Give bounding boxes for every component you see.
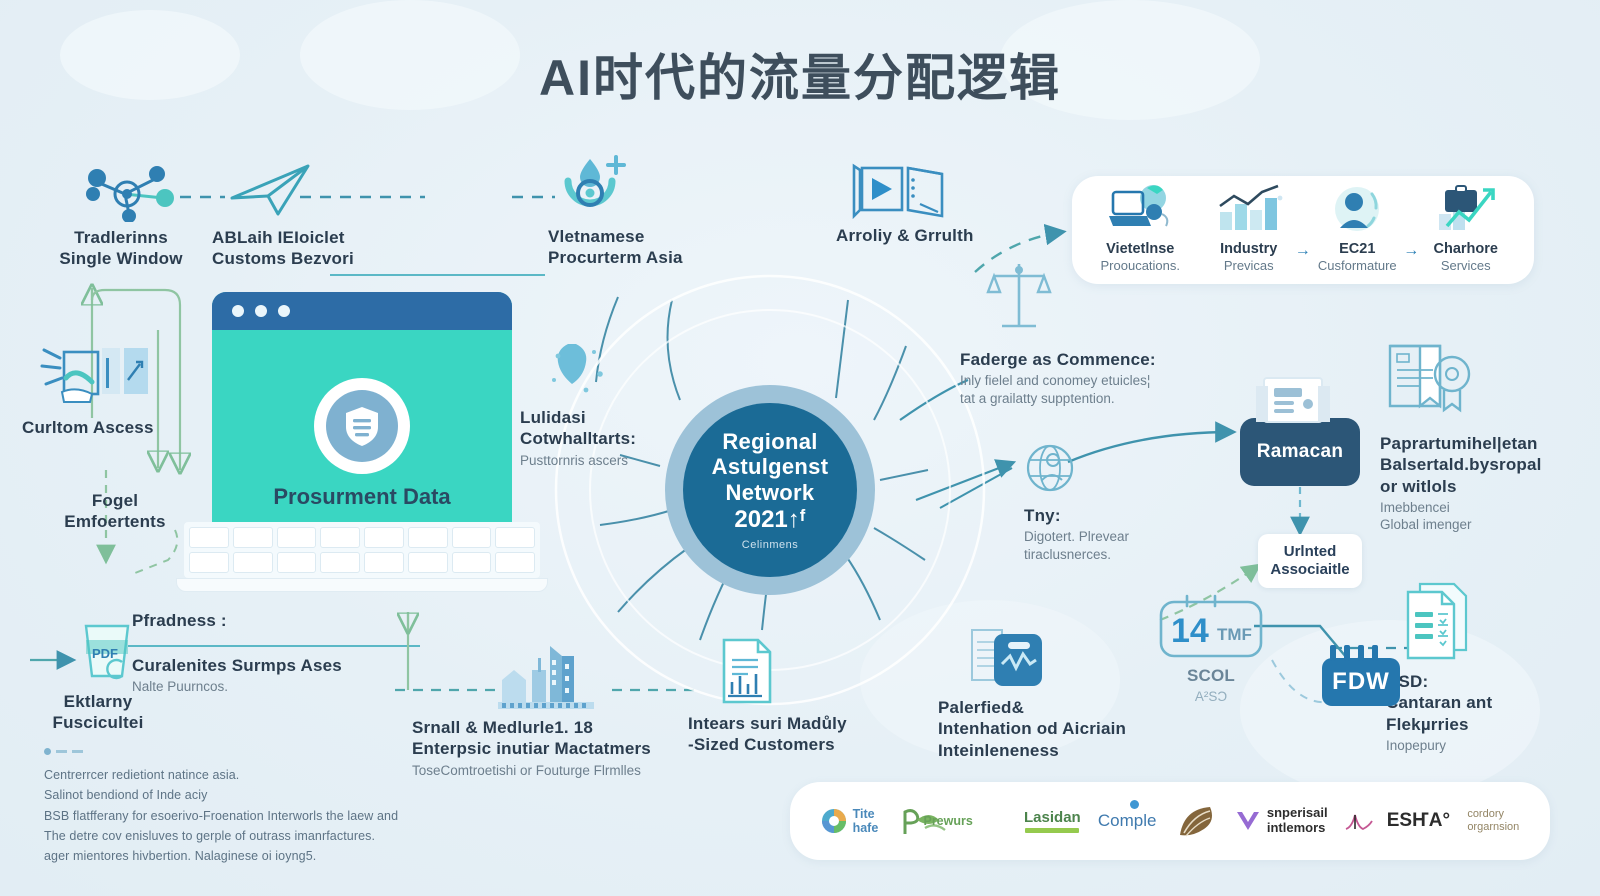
logo-lasidan[interactable]: Lasidan — [1024, 809, 1081, 832]
globe-user-icon — [1020, 440, 1080, 500]
node-label: Paprartumihel|etan Balsertald.bysropal o… — [1380, 433, 1585, 497]
logo-text: cordory orgarnsion — [1467, 808, 1519, 833]
network-nodes-icon — [77, 160, 177, 222]
node-sublabel: Pusttornris ascers — [520, 452, 700, 470]
footnote-line: Centrerrcer redietiont natince asia. — [44, 765, 444, 785]
panel-item-title: Charhore — [1416, 241, 1516, 258]
chip-urlnted-associatie[interactable]: Urlnted Associaitle — [1258, 534, 1362, 588]
hub-year: 2021↑ᶠ — [734, 506, 805, 534]
node-scol-asso[interactable]: 14 TMF SCOL A²SƆ — [1136, 594, 1286, 706]
node-label: Fogel Emfoertents — [40, 490, 190, 533]
briefcase-growth-icon — [1429, 184, 1503, 234]
node-label: SCOL — [1136, 665, 1286, 686]
logo-tite-hafe[interactable]: Tite hafe — [821, 807, 879, 836]
node-sublabel: Inly fielel and conomey etuicles¦ tat a … — [960, 372, 1210, 407]
panel-item-title: Industry — [1199, 241, 1299, 258]
node-pfradness[interactable]: Pfradness : — [132, 610, 332, 631]
node-label: Palerfied& Intenhation od Aicriain Intei… — [938, 697, 1168, 761]
hub-subtitle: Celinmens — [742, 539, 798, 551]
infographic-canvas: AI时代的流量分配逻辑 Prosurment Data — [0, 0, 1600, 896]
node-label: Faderge as Commence: — [960, 349, 1210, 370]
node-label: Curltom Ascess — [22, 417, 212, 438]
logo-feather-brand[interactable] — [1174, 803, 1218, 839]
logo-underline — [1025, 828, 1079, 833]
laptop-illustration: Prosurment Data — [176, 292, 548, 612]
window-dot-minimize-icon — [255, 305, 267, 317]
play-book-icon — [846, 160, 954, 220]
window-dot-close-icon — [232, 305, 244, 317]
hub-line-3: Network — [712, 480, 829, 506]
logo-eska[interactable]: ESҤA° — [1345, 809, 1450, 833]
node-lulidasi-cotwhalltarts[interactable]: Lulidasi Cotwhalltarts: Pusttornris asce… — [520, 340, 700, 469]
logo-snperisail-intemors[interactable]: snperisail intlemors — [1235, 806, 1328, 836]
node-palerfied-international[interactable]: Palerfied& Intenhation od Aicriain Intei… — [938, 620, 1168, 761]
page-title: AI时代的流量分配逻辑 — [0, 38, 1600, 110]
node-label: Arroliy & Grrulth — [836, 225, 1016, 246]
calendar-suffix: TMF — [1217, 625, 1252, 644]
droplet-target-icon — [554, 155, 638, 221]
certificate-icon — [1380, 340, 1480, 428]
window-dot-maximize-icon — [278, 305, 290, 317]
hub-line-1: Regional — [712, 429, 829, 455]
footnote-line: The detre cov enisluves to gerple of out… — [44, 826, 444, 846]
node-traderinns-single-window[interactable]: Tradlerinns Single Window — [36, 160, 206, 270]
chevron-v-icon — [1235, 809, 1261, 833]
logo-dot-icon — [1130, 800, 1139, 809]
chip-fdw[interactable]: FDW — [1322, 658, 1400, 706]
node-label: Intears suri Madůly -Sized Customers — [688, 713, 888, 756]
panel-item-subtitle: Services — [1416, 258, 1516, 274]
chip-pins-icon — [1326, 645, 1396, 661]
logo-cordon-organisation[interactable]: cordory orgarnsion — [1467, 808, 1519, 833]
footnote-block: Centrerrcer redietiont natince asia. Sal… — [44, 748, 444, 866]
node-sublabel: Inopepury — [1386, 737, 1576, 755]
logo-text: ESҤA° — [1387, 810, 1450, 832]
chip-label: Urlnted Associaitle — [1270, 543, 1349, 579]
node-vietnamese-procurtem[interactable]: Vletnamese Procurterm Asia — [548, 155, 738, 269]
node-label: BSD: Cantaran ant Flekµrries — [1386, 671, 1576, 735]
node-label: Lulidasi Cotwhalltarts: — [520, 407, 700, 450]
node-label: Curalenites Surmps Ases — [132, 655, 402, 676]
node-label: Srnall & Medlurle1. 18 Enterpsic inutiar… — [412, 717, 702, 760]
laptop-keyboard — [184, 522, 540, 578]
node-curltom-ascess[interactable]: Curltom Ascess — [22, 336, 212, 438]
node-papartumiheletan[interactable]: Paprartumihel|etan Balsertald.bysropal o… — [1380, 340, 1585, 534]
laptop-base — [176, 578, 548, 592]
logo-text: snperisail intlemors — [1267, 806, 1328, 836]
panel-item-ec21-cusformature[interactable]: EC21 Cusformature → — [1307, 184, 1407, 274]
node-label: Tny: — [1024, 505, 1196, 526]
node-tny-digotert[interactable]: Tny: Digotert. Plrevear tiraclusnerces. — [1016, 440, 1196, 563]
node-label: Tradlerinns Single Window — [36, 227, 206, 270]
panel-item-title: EC21 — [1307, 241, 1407, 258]
feather-icon — [1174, 803, 1218, 839]
chip-label: FDW — [1332, 668, 1390, 696]
city-buildings-icon — [488, 636, 608, 712]
logo-text: Tite hafe — [853, 807, 879, 836]
node-arratiy-grrulth[interactable]: Arroliy & Grrulth — [836, 160, 1016, 246]
peak-icon — [1345, 809, 1381, 833]
node-bsd-cantaran[interactable]: BSD: Cantaran ant Flekµrries Inopepury — [1386, 580, 1576, 754]
shield-icon — [342, 405, 382, 447]
user-gear-icon — [1320, 184, 1394, 234]
node-small-medium-enterprises[interactable]: Srnall & Medlurle1. 18 Enterpsic inutiar… — [412, 636, 702, 779]
logo-text: Prewurs — [923, 814, 972, 828]
monitor-person-icon — [1103, 184, 1177, 234]
calendar-14-icon: 14 TMF — [1153, 594, 1275, 660]
footnote-line: ager mientores hivbertion. Nalaginese oi… — [44, 846, 444, 866]
paper-plane-icon — [226, 160, 318, 222]
panel-item-subtitle: Previcas — [1199, 258, 1299, 274]
node-label: Ektlarny Fuscicultei — [28, 691, 168, 734]
node-sublabel: ToseComtroetishi or Fouturge Flrmlles — [412, 762, 702, 780]
laptop-titlebar — [212, 292, 512, 330]
node-intears-sized-customers[interactable]: Intears suri Madůly -Sized Customers — [688, 636, 888, 756]
node-label: ABLaih IEIoiclet Customs Bezvori — [212, 227, 392, 270]
laptop-caption: Prosurment Data — [212, 484, 512, 510]
panel-item-industry-previcas[interactable]: Industry Previcas → — [1199, 184, 1299, 274]
partner-logo-bar: Tite hafe Prewurs Lasidan Comple — [790, 782, 1550, 860]
hub-line-2: Astulgenst — [712, 454, 829, 480]
panel-item-charhore-services[interactable]: Charhore Services — [1416, 184, 1516, 274]
node-sublabel: A²SƆ — [1136, 688, 1286, 706]
map-dots-icon — [542, 340, 622, 402]
node-label: Vletnamese Procurterm Asia — [548, 226, 738, 269]
node-curalenites-surmps[interactable]: Curalenites Surmps Ases Nalte Puurncos. — [132, 655, 402, 696]
shield-document-icon — [314, 378, 410, 474]
footnote-line: Salinot bendiond of Inde aciy — [44, 785, 444, 805]
footnote-line: BSB flatfferany for esoerivo-Froenation … — [44, 806, 444, 826]
panel-item-title: Vietetlnse — [1090, 241, 1190, 258]
node-fogel-emfoertents[interactable]: Fogel Emfoertents — [40, 490, 190, 533]
calendar-number: 14 — [1171, 612, 1209, 650]
printer-document-icon — [1250, 376, 1336, 434]
panel-item-subtitle: Cusformature — [1307, 258, 1407, 274]
node-sublabel: Nalte Puurncos. — [132, 678, 402, 696]
hub-center: Regional Astulgenst Network 2021↑ᶠ Celin… — [683, 403, 857, 577]
stacked-documents-icon — [1398, 580, 1484, 666]
logo-text: Lasidan — [1024, 809, 1081, 826]
chip-ramacan[interactable]: Ramacan — [1240, 418, 1360, 486]
scale-device-icon — [966, 620, 1052, 692]
logo-text: Comple — [1098, 811, 1157, 831]
chip-label: Ramacan — [1257, 441, 1344, 463]
logo-prewurs[interactable]: Prewurs — [895, 806, 1006, 836]
logo-comple[interactable]: Comple — [1098, 811, 1157, 831]
footnote-legend-dash — [44, 748, 444, 755]
balance-scale-icon — [986, 258, 1052, 344]
color-wheel-icon — [821, 808, 847, 834]
node-ablaih-customs[interactable]: ABLaih IEIoiclet Customs Bezvori — [212, 160, 392, 270]
chart-window-icon — [36, 336, 156, 412]
document-chart-icon — [714, 636, 778, 708]
node-sublabel: Imebbencei Global imenger — [1380, 499, 1585, 534]
node-label: Pfradness : — [132, 610, 332, 631]
node-sublabel: Digotert. Plrevear tiraclusnerces. — [1024, 528, 1196, 563]
laptop-screen: Prosurment Data — [212, 292, 512, 522]
bar-line-chart-icon — [1212, 184, 1286, 234]
svg-text:PDF: PDF — [92, 646, 118, 661]
node-faderge-commence[interactable]: Faderge as Commence: Inly fielel and con… — [960, 258, 1210, 407]
